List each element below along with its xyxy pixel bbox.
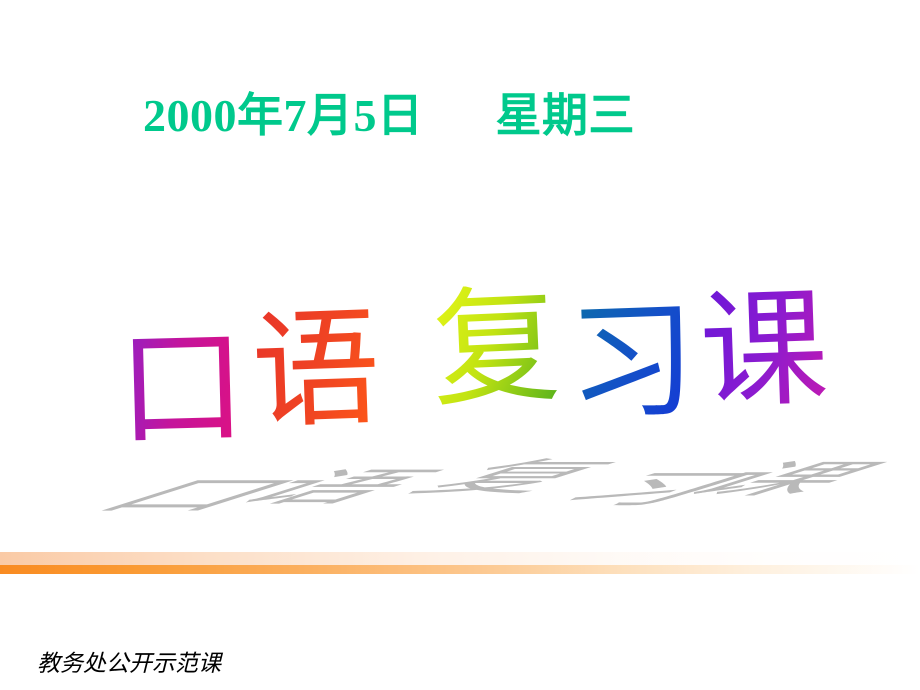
footer-line-course: 教务处公开示范课 <box>37 649 244 679</box>
decorative-band-stripe <box>0 565 920 574</box>
footer-credits: 教务处公开示范课 制作、授课：郑艳群 <box>37 589 244 690</box>
presentation-slide: 2000年7月5日 星期三 口 语 复 习 课 口 语 复 习 课 教务处公开示… <box>0 0 920 690</box>
decorative-band <box>0 552 920 574</box>
wordart-char-yu: 语 <box>250 305 382 437</box>
wordart-char-fu: 复 <box>429 282 562 415</box>
wordart-char-xi: 习 <box>566 297 698 429</box>
wordart-char-kou: 口 <box>116 323 247 454</box>
date-heading: 2000年7月5日 星期三 <box>143 88 635 144</box>
wordart-char-ke: 课 <box>698 285 830 417</box>
wordart-title: 口 语 复 习 课 口 语 复 习 课 <box>0 255 920 505</box>
